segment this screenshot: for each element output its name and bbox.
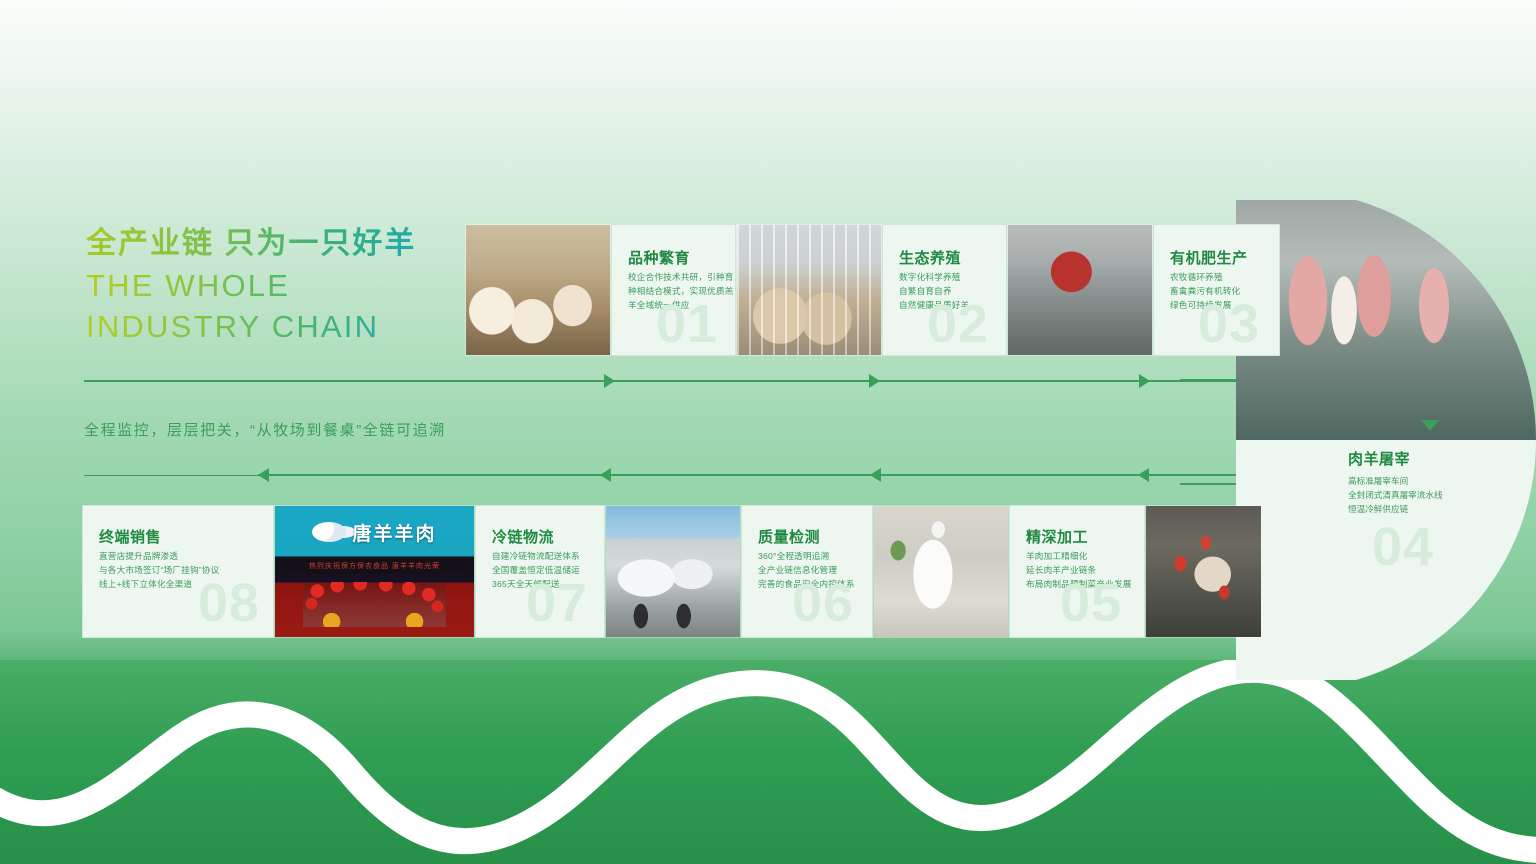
lab-inspection-photo (874, 506, 1008, 637)
step-01-title: 品种繁育 (628, 247, 690, 268)
decorative-wave (0, 660, 1536, 864)
bottom-row: 终端销售 直营店提升品牌渗透 与各大市场签订“场厂挂钩”协议 线上+线下立体化全… (82, 505, 1262, 638)
step-04-circle (1236, 200, 1536, 680)
step-03-card[interactable]: 有机肥生产 农牧循环养殖 畜禽粪污有机转化 绿色可持续发展 03 (1153, 224, 1280, 356)
step-04-body: 高标准屠宰车间 全封闭式清真屠宰流水线 恒温冷鲜供应链 (1348, 475, 1528, 517)
circle-mask (1236, 200, 1536, 680)
step-02-card[interactable]: 生态养殖 数字化科学养殖 自繁自育自养 自然健康品质好羊 02 (882, 224, 1007, 356)
headline-english-line1: THE WHOLE (86, 267, 516, 306)
headline-block: 全产业链 只为一只好羊 THE WHOLE INDUSTRY CHAIN (86, 224, 516, 347)
store-led-banner: 热烈庆祝保方保农食品 唐羊羊肉光荣 (283, 558, 466, 574)
step-08-card[interactable]: 终端销售 直营店提升品牌渗透 与各大市场签订“场厂挂钩”协议 线上+线下立体化全… (82, 505, 274, 638)
step-05-title: 精深加工 (1026, 526, 1088, 547)
top-row: 品种繁育 校企合作技术共研，引种育 种相结合模式，实现优质羔 羊全域统一供应 0… (465, 224, 1280, 356)
step-03-title: 有机肥生产 (1170, 247, 1248, 268)
arrow-head-right-3 (1139, 374, 1150, 388)
headline-chinese: 全产业链 只为一只好羊 (86, 224, 516, 264)
step-08-photo-cell: 唐羊羊肉 热烈庆祝保方保农食品 唐羊羊肉光荣 (274, 505, 475, 638)
step-06-title: 质量检测 (758, 526, 820, 547)
step-06-photo-cell (873, 505, 1009, 638)
step-03-photo-cell (1007, 224, 1153, 356)
step-05-card[interactable]: 精深加工 羊肉加工精细化 延长肉羊产业链条 布局肉制品预制菜产业发展 05 (1009, 505, 1145, 638)
step-08-title: 终端销售 (99, 526, 161, 547)
step-08-number: 08 (198, 576, 260, 630)
arrow-head-left-4 (1138, 468, 1149, 482)
step-07-card[interactable]: 冷链物流 自建冷链物流配送体系 全国覆盖恒定低温储运 365天全天候配送 07 (475, 505, 605, 638)
step-07-title: 冷链物流 (492, 526, 554, 547)
retail-store-photo: 唐羊羊肉 热烈庆祝保方保农食品 唐羊羊肉光荣 (275, 506, 474, 637)
infographic-poster: 全产业链 只为一只好羊 THE WHOLE INDUSTRY CHAIN 全程监… (0, 0, 1536, 864)
step-06-card[interactable]: 质量检测 360°全程透明追溯 全产业链信息化管理 完善的食品安全内控体系 06 (741, 505, 873, 638)
step-01-card[interactable]: 品种繁育 校企合作技术共研，引种育 种相结合模式，实现优质羔 羊全域统一供应 0… (611, 224, 736, 356)
store-sign-text: 唐羊羊肉 (352, 519, 436, 546)
rule-bottom (84, 475, 258, 476)
step-04-number: 04 (1372, 520, 1434, 574)
sheep-lambs-photo (466, 225, 610, 355)
step-06-number: 06 (792, 576, 854, 630)
arrow-head-right-1 (604, 374, 615, 388)
step-02-title: 生态养殖 (899, 247, 961, 268)
step-07-number: 07 (526, 576, 588, 630)
step-01-photo-cell (465, 224, 611, 356)
step-05-number: 05 (1060, 576, 1122, 630)
arrow-head-left-1 (258, 468, 269, 482)
step-07-photo-cell (605, 505, 741, 638)
step-01-number: 01 (656, 297, 718, 351)
store-sign: 唐羊羊肉 (291, 516, 458, 547)
step-05-photo-cell (1145, 505, 1262, 638)
store-logo-icon (312, 522, 346, 542)
sheep-barn-photo (737, 225, 881, 355)
step-02-number: 02 (927, 297, 989, 351)
arrow-head-down (1421, 420, 1439, 431)
store-banner-text: 热烈庆祝保方保农食品 唐羊羊肉光荣 (309, 561, 440, 571)
step-04-text: 肉羊屠宰 高标准屠宰车间 全封闭式清真屠宰流水线 恒温冷鲜供应链 (1348, 448, 1528, 517)
refrigerated-truck-photo (606, 506, 740, 637)
headline-english-line2: INDUSTRY CHAIN (86, 308, 516, 347)
step-03-number: 03 (1198, 297, 1260, 351)
organic-fertilizer-plant-photo (1008, 225, 1152, 355)
step-02-photo-cell (736, 224, 882, 356)
slaughter-line-photo (1236, 200, 1536, 440)
arrow-head-right-2 (869, 374, 880, 388)
store-balloon-arch (303, 582, 446, 627)
step-04-title: 肉羊屠宰 (1348, 448, 1528, 469)
arrow-head-left-2 (600, 468, 611, 482)
arrow-head-left-3 (870, 468, 881, 482)
subtitle-text: 全程监控，层层把关，“从牧场到餐桌”全链可追溯 (84, 419, 446, 440)
processed-meat-photo (1146, 506, 1261, 637)
